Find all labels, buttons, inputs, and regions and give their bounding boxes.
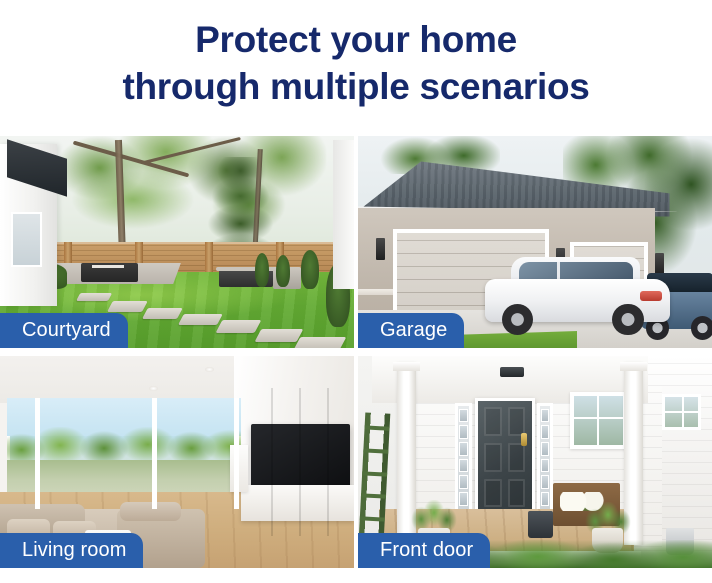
front-door[interactable] <box>475 398 535 517</box>
title-line-2: through multiple scenarios <box>0 63 712 110</box>
sidelight-pane <box>541 425 550 439</box>
sidelight-pane <box>459 475 468 489</box>
cabinet-divider <box>327 388 329 536</box>
door-panel <box>508 407 525 436</box>
window-forest <box>7 427 241 464</box>
sidelight-pane <box>459 409 468 423</box>
window-grid <box>597 392 599 449</box>
scenario-card-living-room[interactable]: Living room <box>0 356 354 568</box>
door-sidelight-right <box>537 403 553 513</box>
scenario-label-living-room: Living room <box>0 533 143 568</box>
window-grid <box>570 417 627 419</box>
sidelight-pane <box>541 475 550 489</box>
armchair-backrest <box>120 502 180 521</box>
page-title: Protect your home through multiple scena… <box>0 16 712 110</box>
door-handle[interactable] <box>521 433 527 446</box>
ladder-rung <box>363 448 388 453</box>
house-window <box>11 212 43 267</box>
door-panel <box>508 443 525 472</box>
suv-wheel <box>502 304 533 335</box>
ladder-rung <box>359 517 384 522</box>
shrub <box>255 253 269 287</box>
scenario-label-garage: Garage <box>358 313 464 348</box>
window-mullion <box>152 398 157 508</box>
sidelight-pane <box>541 442 550 456</box>
column-capital <box>620 362 647 370</box>
tree-canopy <box>50 136 326 255</box>
ladder-rung <box>364 425 389 430</box>
ceiling-light <box>205 367 214 372</box>
suv-taillight <box>640 291 662 301</box>
ladder-rung <box>362 471 387 476</box>
stepping-stone <box>216 320 262 333</box>
window-mullion <box>234 398 239 508</box>
sidelight-pane <box>459 492 468 506</box>
scenario-label-courtyard: Courtyard <box>0 313 128 348</box>
ceiling-light <box>149 386 158 391</box>
rubber-boots <box>528 511 553 539</box>
suv-wheel <box>612 304 643 335</box>
sidelight-pane <box>541 459 550 473</box>
sidelight-pane <box>459 459 468 473</box>
ladder-rung <box>360 494 385 499</box>
sidelight-pane <box>459 442 468 456</box>
truck-wheel <box>691 316 712 339</box>
sidelight-pane <box>541 492 550 506</box>
window-grid <box>662 411 701 413</box>
promo-banner: Protect your home through multiple scena… <box>0 0 712 583</box>
title-line-1: Protect your home <box>0 16 712 63</box>
stepping-stone <box>178 314 223 325</box>
scenario-card-garage[interactable]: Garage <box>358 136 712 348</box>
porch-light <box>500 367 525 378</box>
window-mullion <box>35 398 40 508</box>
patio-table <box>92 265 124 268</box>
stepping-stone <box>107 301 148 312</box>
stepping-stone <box>294 337 347 348</box>
scenario-grid: Courtyard <box>0 136 712 568</box>
scenario-card-courtyard[interactable]: Courtyard <box>0 136 354 348</box>
shrub <box>301 250 319 288</box>
shrub <box>276 255 290 287</box>
stepping-stone <box>142 308 183 319</box>
scenario-label-front-door: Front door <box>358 533 490 568</box>
wall-lantern <box>376 238 385 260</box>
sidelight-pane <box>541 409 550 423</box>
cabinet-divider <box>299 388 301 536</box>
sidelight-pane <box>459 425 468 439</box>
neighbor-house <box>333 140 354 288</box>
stepping-stone <box>255 329 304 342</box>
stepping-stone <box>76 293 112 301</box>
door-panel <box>484 407 501 436</box>
column-capital <box>393 362 420 370</box>
door-panel <box>508 479 525 507</box>
door-panel <box>484 443 501 472</box>
door-sidelight-left <box>455 403 471 513</box>
white-suv <box>485 250 669 335</box>
scenario-card-front-door[interactable]: Front door <box>358 356 712 568</box>
sideboard-cabinet <box>241 485 354 521</box>
cabinet-divider <box>271 388 273 536</box>
door-panel <box>484 479 501 507</box>
